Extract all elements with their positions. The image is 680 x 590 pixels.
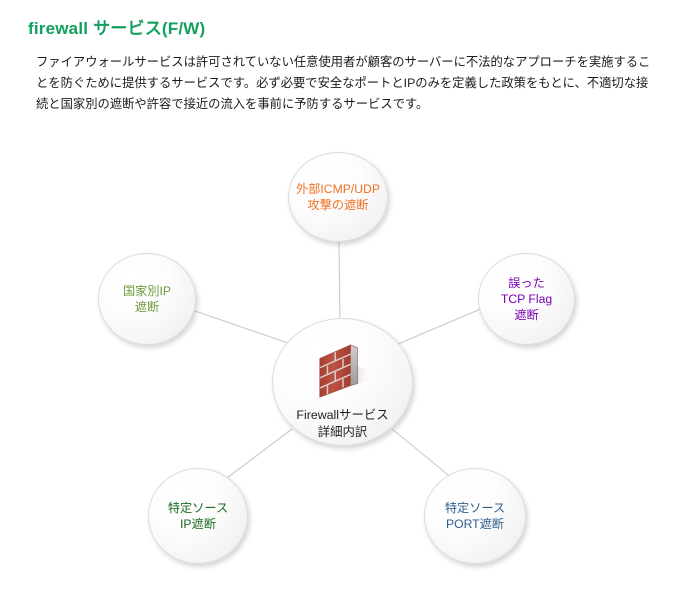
center-label-line2: 詳細内訳	[296, 424, 388, 441]
connector-center-to-icmp	[339, 242, 340, 326]
node-srcport-line2: PORT遮断	[446, 516, 504, 532]
node-firewall-service-center[interactable]: Firewallサービス 詳細内訳	[272, 318, 413, 446]
page-title: firewall サービス(F/W)	[28, 14, 205, 39]
node-tcp-line2: TCP Flag	[501, 291, 552, 307]
node-external-icmp-udp-block[interactable]: 外部ICMP/UDP 攻撃の遮断	[288, 152, 388, 242]
node-tcp-line1: 誤った	[508, 275, 545, 291]
connector-center-to-tcp	[398, 308, 483, 344]
intro-paragraph: ファイアウォールサービスは許可されていない任意使用者が顧客のサーバーに不法的なア…	[36, 52, 656, 115]
center-label-line1: Firewallサービス	[296, 407, 388, 424]
node-country-line1: 国家別IP	[123, 283, 171, 299]
firewall-radial-diagram: 外部ICMP/UDP 攻撃の遮断 誤った TCP Flag 遮断 国家別IP 遮…	[0, 130, 680, 590]
node-source-port-block[interactable]: 特定ソース PORT遮断	[424, 468, 526, 564]
brick-wall-icon	[312, 341, 374, 403]
node-icmp-line1: 外部ICMP/UDP	[296, 181, 380, 197]
node-icmp-line2: 攻撃の遮断	[308, 197, 369, 213]
node-country-ip-block[interactable]: 国家別IP 遮断	[98, 253, 196, 345]
node-source-ip-block[interactable]: 特定ソース IP遮断	[148, 468, 248, 564]
connector-center-to-srcip	[227, 429, 292, 478]
connector-center-to-srcport	[392, 429, 452, 478]
node-wrong-tcp-flag-block[interactable]: 誤った TCP Flag 遮断	[478, 253, 575, 345]
node-srcip-line1: 特定ソース	[168, 500, 228, 516]
node-srcport-line1: 特定ソース	[445, 500, 505, 516]
node-tcp-line3: 遮断	[514, 307, 538, 323]
page-root: firewall サービス(F/W) ファイアウォールサービスは許可されていない…	[0, 0, 680, 590]
connector-center-to-country	[192, 310, 288, 343]
node-srcip-line2: IP遮断	[180, 516, 216, 532]
node-country-line2: 遮断	[135, 299, 159, 315]
